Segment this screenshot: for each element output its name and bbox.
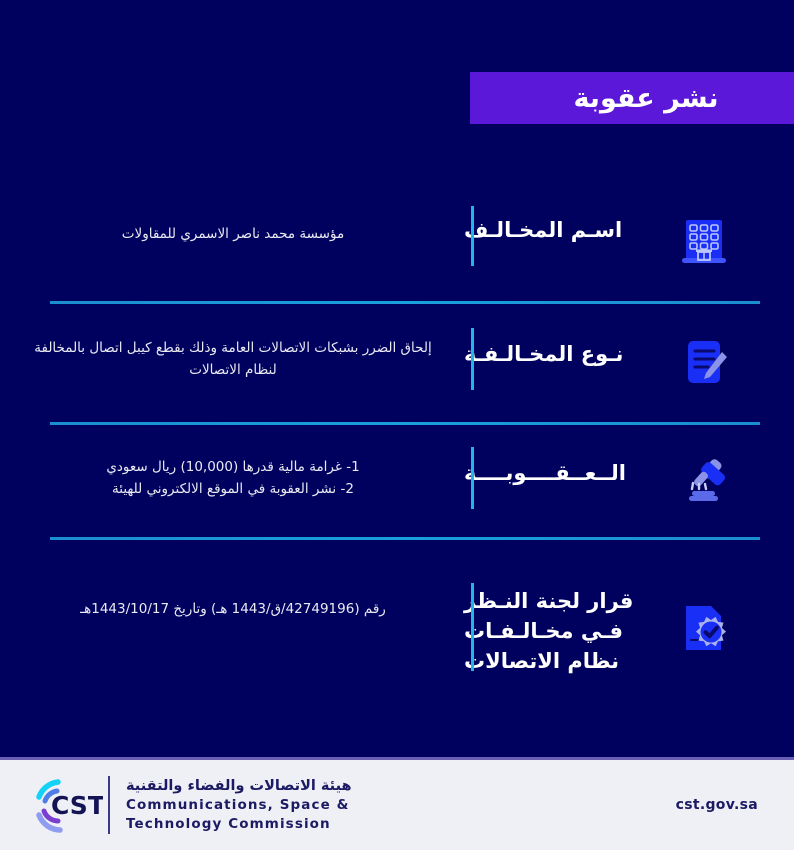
row-label-line: قرار لجنة النـظر [464,587,654,617]
header-banner: نشر عقوبة [470,72,794,124]
website-url[interactable]: cst.gov.sa [676,797,758,813]
row-label: قرار لجنة النـظر فـي مخـالـفـات نظام الا… [464,587,654,676]
row-vertical-divider [471,583,474,671]
footer-divider [108,776,110,834]
row-vertical-divider [471,206,474,266]
svg-text:CST: CST [51,791,103,820]
row-label-line: فـي مخـالـفـات [464,617,654,647]
row-value: 1- غرامة مالية قدرها (10,000) ريال سعودي… [28,457,438,500]
row-value: إلحاق الضرر بشبكات الاتصالات العامة وذلك… [28,338,438,381]
row-value-line: 1- غرامة مالية قدرها (10,000) ريال سعودي [28,457,438,479]
row-label-line: نـوع المخـالـفـة [464,340,654,370]
details-list: اسـم المخـالـف مؤسسة محمد ناصر الاسمري ل… [0,200,794,675]
document-pen-icon [672,330,736,394]
row-value: رقم (42749196/ق/1443 هـ) وتاريخ 1443/10/… [28,599,438,621]
org-name-arabic: هيئة الاتصالات والفضاء والتقنية [126,777,352,797]
table-row: اسـم المخـالـف مؤسسة محمد ناصر الاسمري ل… [0,200,794,300]
row-value-line: لنظام الاتصالات [28,360,438,382]
row-label-line: اسـم المخـالـف [464,216,654,246]
table-row: قرار لجنة النـظر فـي مخـالـفـات نظام الا… [0,535,794,675]
row-label: الــعــقــــوبــــة [464,459,654,489]
table-row: الــعــقــــوبــــة 1- غرامة مالية قدرها… [0,407,794,535]
row-label: اسـم المخـالـف [464,216,654,246]
row-label-line: نظام الاتصالات [464,647,654,677]
row-value-line: مؤسسة محمد ناصر الاسمري للمقاولات [28,224,438,246]
cst-logo: CST [26,772,104,838]
building-icon [672,208,736,272]
footer-org-name: هيئة الاتصالات والفضاء والتقنية Communic… [126,777,352,834]
gavel-icon [672,449,736,513]
org-name-english-line2: Technology Commission [126,815,352,834]
row-label-line: الــعــقــــوبــــة [464,459,654,489]
table-row: نـوع المخـالـفـة إلحاق الضرر بشبكات الات… [0,300,794,407]
penalty-publication-card: نشر عقوبة [0,0,794,850]
row-value-line: 2- نشر العقوبة في الموقع الالكتروني للهي… [28,479,438,501]
row-label: نـوع المخـالـفـة [464,340,654,370]
footer: CST هيئة الاتصالات والفضاء والتقنية Comm… [0,757,794,850]
page-title: نشر عقوبة [573,85,718,112]
certificate-check-icon [672,597,736,661]
row-value: مؤسسة محمد ناصر الاسمري للمقاولات [28,224,438,246]
row-vertical-divider [471,447,474,509]
row-vertical-divider [471,328,474,390]
row-value-line: رقم (42749196/ق/1443 هـ) وتاريخ 1443/10/… [28,599,438,621]
org-name-english-line1: Communications, Space & [126,796,352,815]
row-value-line: إلحاق الضرر بشبكات الاتصالات العامة وذلك… [28,338,438,360]
